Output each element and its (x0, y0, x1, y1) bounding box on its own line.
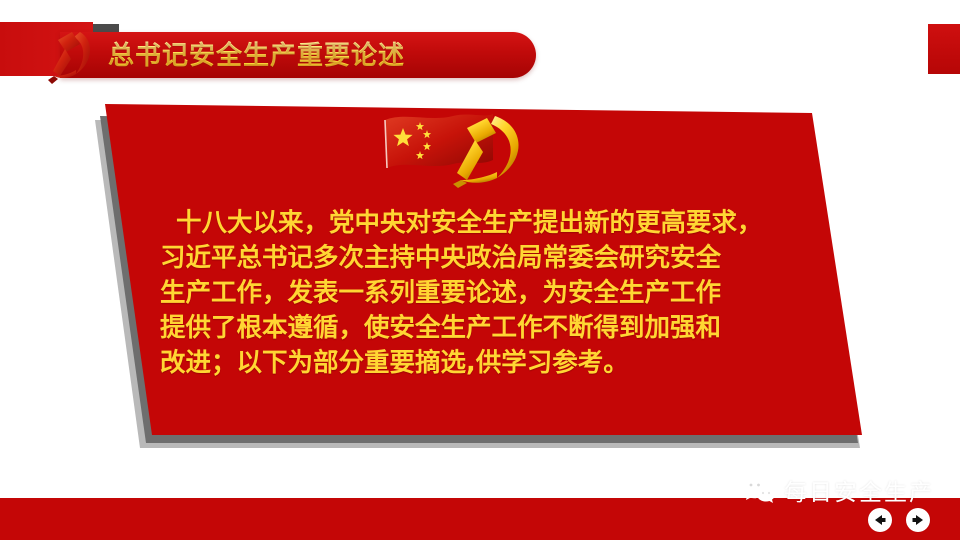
body-line: 习近平总书记多次主持中央政治局常委会研究安全 (160, 241, 830, 276)
wechat-brand: 每日安全生产 (742, 474, 934, 506)
party-emblem-hammer-sickle-icon (40, 24, 102, 86)
body-line: 改进；以下为部分重要摘选,供学习参考。 (160, 346, 830, 381)
footer-nav-buttons (868, 508, 930, 532)
panel-emblem-group (375, 108, 545, 188)
page-title: 总书记安全生产重要论述 (108, 36, 405, 76)
wechat-icon (742, 476, 776, 504)
top-right-red-square (928, 24, 960, 74)
next-button[interactable] (906, 508, 930, 532)
body-line: 十八大以来，党中央对安全生产提出新的更高要求， (160, 206, 830, 241)
body-line: 生产工作，发表一系列重要论述，为安全生产工作 (160, 276, 830, 311)
slide-canvas: 总书记安全生产重要论述 (0, 0, 960, 540)
arrow-right-icon (911, 513, 925, 527)
panel-body-text: 十八大以来，党中央对安全生产提出新的更高要求， 习近平总书记多次主持中央政治局常… (160, 206, 830, 381)
wechat-brand-label: 每日安全生产 (784, 473, 934, 507)
arrow-left-icon (873, 513, 887, 527)
prev-button[interactable] (868, 508, 892, 532)
body-line: 提供了根本遵循，使安全生产工作不断得到加强和 (160, 311, 830, 346)
